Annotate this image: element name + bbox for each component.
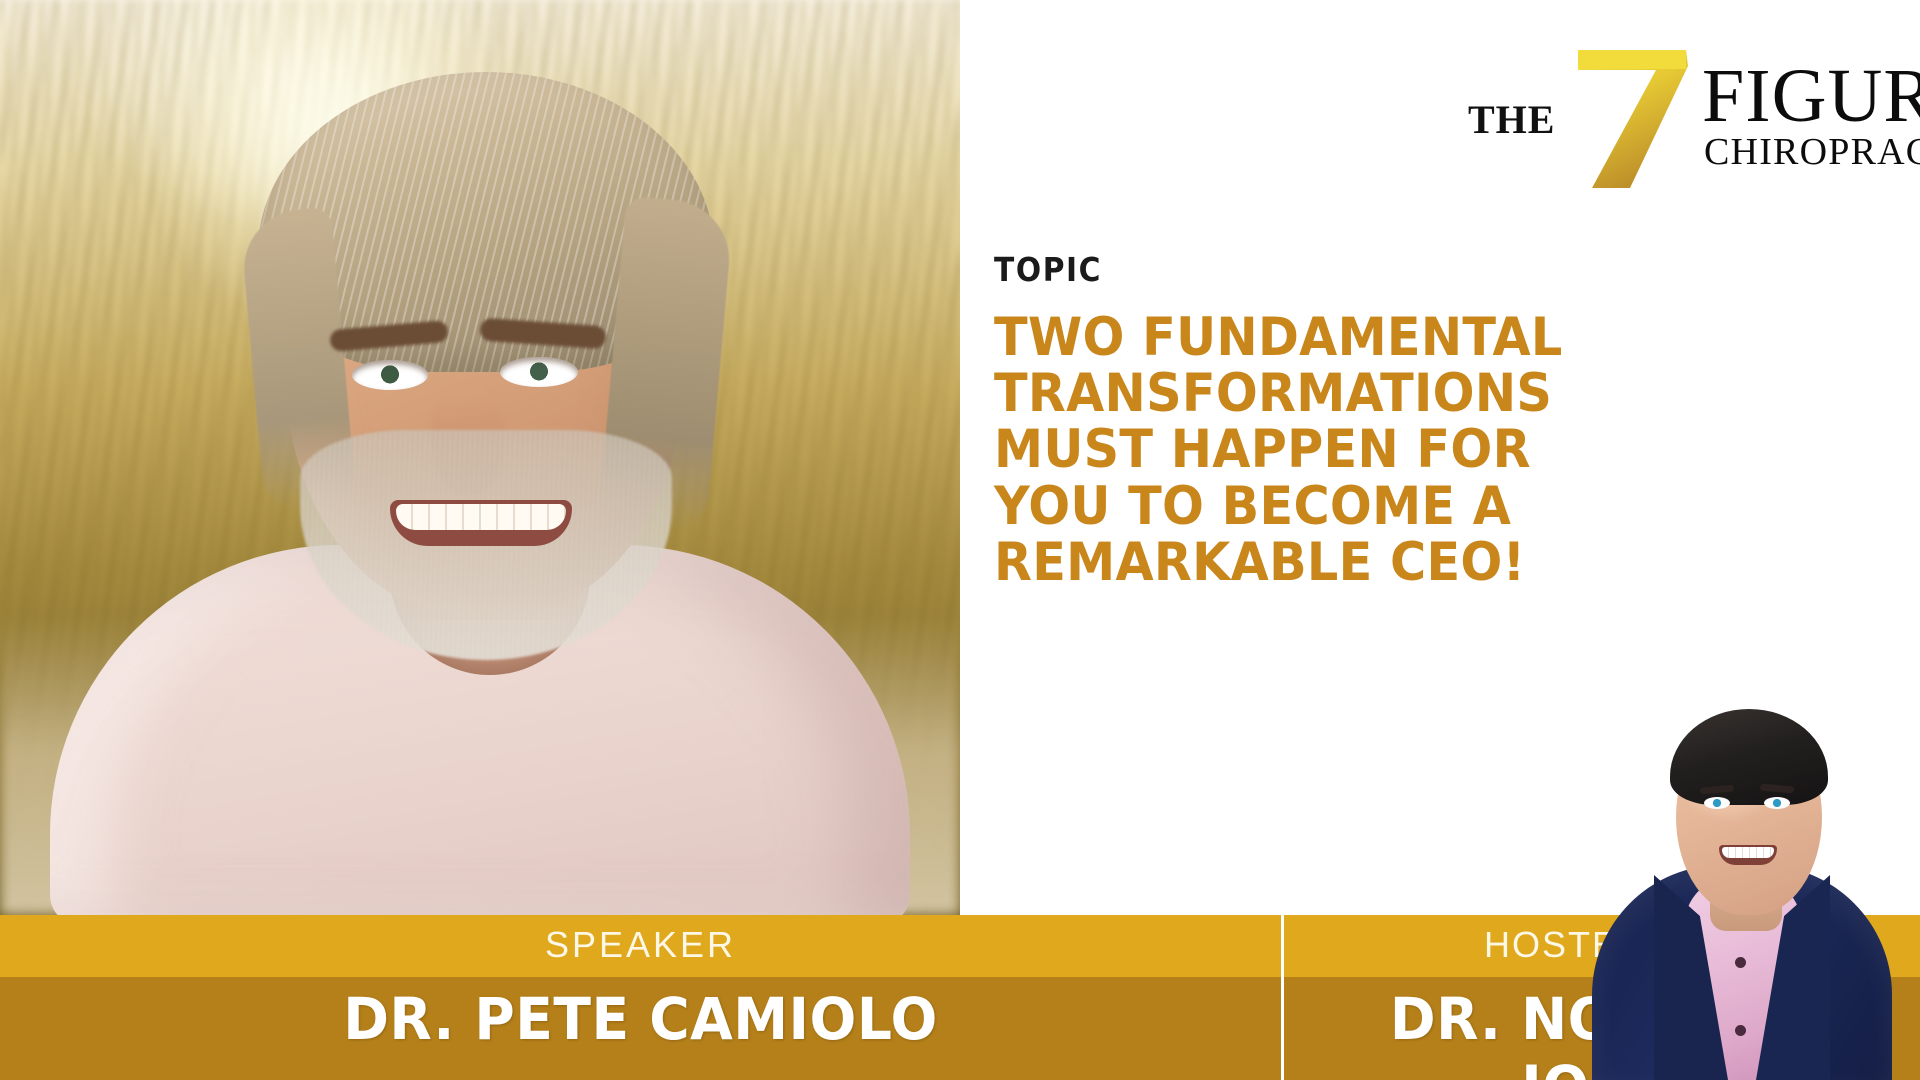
brand-logo: THE FIGURE CHIROPRACTOR (1458, 26, 1878, 166)
speaker-teeth (396, 504, 566, 530)
host-eye-left (1704, 797, 1730, 809)
host-shirt-button-bottom (1735, 1025, 1746, 1036)
logo-chiropractor-text: CHIROPRACTOR (1704, 130, 1920, 174)
speaker-name: DR. PETE CAMIOLO (32, 985, 1249, 1053)
speaker-eye-left (352, 360, 428, 390)
topic-label: TOPIC (994, 250, 1102, 289)
host-mouth (1719, 845, 1777, 865)
host-eye-right (1764, 797, 1790, 809)
host-hair (1670, 709, 1828, 805)
speaker-mouth (390, 500, 572, 546)
speaker-role-label: SPEAKER (0, 924, 1281, 966)
host-teeth (1722, 847, 1774, 858)
logo-the-text: THE (1468, 96, 1555, 143)
host-portrait-image (1592, 693, 1892, 1080)
speaker-portrait-image (0, 0, 960, 915)
logo-seven-numeral-icon (1568, 36, 1698, 188)
podcast-episode-card: THE FIGURE CHIROPRACTOR TOPIC TWO FUNDAM… (0, 0, 1920, 1080)
speaker-figure (0, 0, 960, 915)
speaker-eye-right (500, 357, 578, 387)
credits-divider (1281, 915, 1284, 1080)
topic-headline: TWO FUNDAMENTAL TRANSFORMATIONS MUST HAP… (994, 310, 1645, 591)
logo-figure-text: FIGURE (1702, 60, 1920, 132)
host-shirt-button-top (1735, 957, 1746, 968)
